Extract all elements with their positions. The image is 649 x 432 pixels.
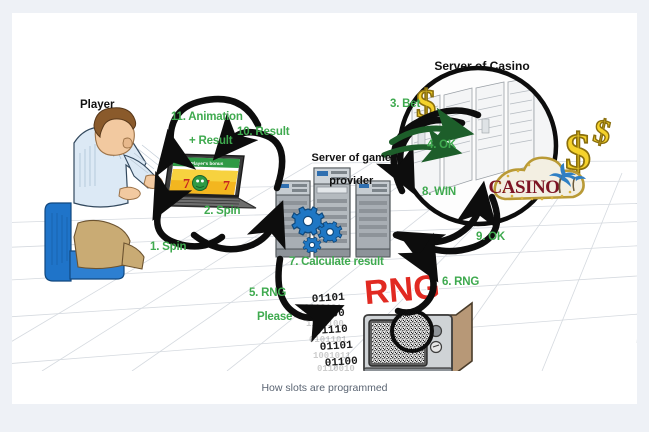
label-step-6: 6. RNG — [442, 276, 479, 288]
binary-stream: 01101 00100 01110 01101 01100 0110101 11… — [304, 292, 358, 371]
svg-text:7: 7 — [223, 179, 230, 194]
label-server-of-game-provider: Server of game provider — [284, 141, 394, 199]
label-step-10: 10. Result — [237, 126, 289, 138]
diagram-figure: Player's bonus 7 7 7 — [12, 13, 637, 371]
label-step-5: 5. RNG Please — [225, 275, 292, 335]
dollar-sign-icon: $ — [590, 113, 614, 153]
label-step-8: 8. WIN — [422, 186, 456, 198]
label-step-1: 1. Spin — [150, 241, 186, 253]
step5-line1: 5. RNG — [249, 287, 286, 299]
step11-line2: + Result — [189, 135, 232, 147]
svg-text:0110101: 0110101 — [304, 303, 342, 313]
arrow-step-2 — [194, 223, 274, 249]
label-step-4: 4. OK — [427, 139, 456, 151]
svg-text:1001011: 1001011 — [313, 351, 351, 361]
label-server-of-casino: Server of Casino — [407, 60, 557, 73]
figure-caption: How slots are programmed — [12, 371, 637, 404]
label-step-7: 7. Calculate result — [289, 256, 384, 268]
label-step-2: 2. Spin — [204, 205, 240, 217]
content-card: Player's bonus 7 7 7 — [12, 13, 637, 404]
label-step-3: 3. Bet — [390, 98, 420, 110]
laptop-illustration: Player's bonus 7 7 7 — [164, 154, 256, 208]
gp-line1: Server of game — [311, 152, 390, 164]
gp-line2: provider — [329, 175, 373, 187]
label-player: Player — [80, 99, 115, 111]
label-step-11: 11. Animation + Result — [147, 99, 243, 159]
svg-text:Player's bonus: Player's bonus — [191, 161, 224, 166]
player-illustration — [45, 108, 163, 281]
svg-text:CASINO: CASINO — [489, 177, 560, 198]
step11-line1: 11. Animation — [171, 111, 243, 123]
svg-text:$: $ — [590, 113, 614, 153]
page-root: Player's bonus 7 7 7 — [0, 0, 649, 432]
svg-text:7: 7 — [183, 177, 190, 192]
step5-line2: Please — [257, 311, 292, 323]
svg-text:0110010: 0110010 — [317, 364, 355, 371]
label-step-9: 9. OK — [476, 231, 505, 243]
svg-text:0101101: 0101101 — [309, 335, 347, 345]
